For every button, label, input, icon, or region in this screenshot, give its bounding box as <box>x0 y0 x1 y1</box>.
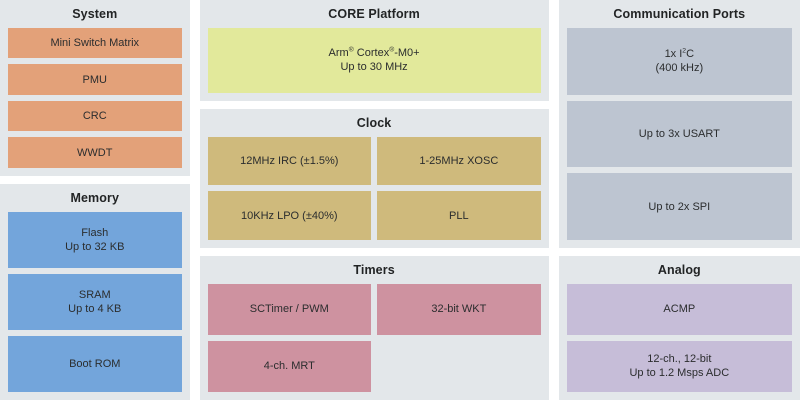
block-label-line1: SRAM <box>79 289 111 301</box>
block-label-line2: (400 kHz) <box>655 62 703 74</box>
left-column: System Mini Switch Matrix PMU CRC WWDT M… <box>0 0 190 400</box>
block-crc[interactable]: CRC <box>8 101 182 132</box>
block-sram[interactable]: SRAM Up to 4 KB <box>8 274 182 330</box>
mcu-block-diagram: System Mini Switch Matrix PMU CRC WWDT M… <box>0 0 800 400</box>
panel-title-communication-ports: Communication Ports <box>567 8 792 22</box>
block-label: SRAM Up to 4 KB <box>68 288 121 316</box>
block-label-line1: 1x I2C <box>665 48 694 60</box>
analog-block-list: ACMP 12-ch., 12-bit Up to 1.2 Msps ADC <box>567 284 792 392</box>
block-acmp[interactable]: ACMP <box>567 284 792 335</box>
clock-block-list: 12MHz IRC (±1.5%) 1-25MHz XOSC 10KHz LPO… <box>208 137 541 240</box>
panel-title-timers: Timers <box>208 264 541 278</box>
i2c-prefix: 1x I <box>665 48 683 60</box>
timers-block-list: SCTimer / PWM 32-bit WKT 4-ch. MRT <box>208 284 541 392</box>
panel-title-memory: Memory <box>8 192 182 206</box>
panel-title-core-platform: CORE Platform <box>208 8 541 22</box>
block-label: 32-bit WKT <box>431 302 486 316</box>
block-label: 4-ch. MRT <box>264 359 315 373</box>
panel-memory: Memory Flash Up to 32 KB SRAM Up to 4 KB… <box>0 184 190 400</box>
block-32bit-wkt[interactable]: 32-bit WKT <box>377 284 541 335</box>
panel-clock: Clock 12MHz IRC (±1.5%) 1-25MHz XOSC 10K… <box>200 109 549 248</box>
communication-block-list: 1x I2C (400 kHz) Up to 3x USART Up to 2x… <box>567 28 792 240</box>
block-label: 12-ch., 12-bit Up to 1.2 Msps ADC <box>629 352 729 380</box>
right-column: Communication Ports 1x I2C (400 kHz) Up … <box>559 0 800 400</box>
block-10khz-lpo[interactable]: 10KHz LPO (±40%) <box>208 191 372 240</box>
block-label-line2: Up to 4 KB <box>68 303 121 315</box>
block-timers-placeholder <box>377 341 541 392</box>
block-sctimer-pwm[interactable]: SCTimer / PWM <box>208 284 372 335</box>
block-arm-cortex-m0plus[interactable]: Arm® Cortex®-M0+ Up to 30 MHz <box>208 28 541 93</box>
block-label: 1-25MHz XOSC <box>419 154 498 168</box>
block-label: Mini Switch Matrix <box>50 36 139 50</box>
core-family: Cortex <box>354 47 389 59</box>
block-label-line1: Boot ROM <box>69 357 120 371</box>
block-usart[interactable]: Up to 3x USART <box>567 101 792 168</box>
panel-timers: Timers SCTimer / PWM 32-bit WKT 4-ch. MR… <box>200 256 549 400</box>
block-12mhz-irc[interactable]: 12MHz IRC (±1.5%) <box>208 137 372 186</box>
block-label-line1: Up to 2x SPI <box>648 200 710 214</box>
block-label-line2: Up to 1.2 Msps ADC <box>629 367 729 379</box>
block-label: WWDT <box>77 146 112 160</box>
block-label: PLL <box>449 209 469 223</box>
panel-core-platform: CORE Platform Arm® Cortex®-M0+ Up to 30 … <box>200 0 549 101</box>
block-label-line1: Arm® Cortex®-M0+ <box>329 47 420 59</box>
block-label: SCTimer / PWM <box>250 302 329 316</box>
block-wwdt[interactable]: WWDT <box>8 137 182 168</box>
block-xosc[interactable]: 1-25MHz XOSC <box>377 137 541 186</box>
block-label: 10KHz LPO (±40%) <box>241 209 338 223</box>
block-label: PMU <box>83 73 107 87</box>
panel-system: System Mini Switch Matrix PMU CRC WWDT <box>0 0 190 176</box>
block-label-line1: ACMP <box>663 302 695 316</box>
panel-title-system: System <box>8 8 182 22</box>
block-spi[interactable]: Up to 2x SPI <box>567 173 792 240</box>
memory-block-list: Flash Up to 32 KB SRAM Up to 4 KB Boot R… <box>8 212 182 392</box>
i2c-suffix: C <box>686 48 694 60</box>
block-label-line1: Up to 3x USART <box>639 127 720 141</box>
block-boot-rom[interactable]: Boot ROM <box>8 336 182 392</box>
block-mini-switch-matrix[interactable]: Mini Switch Matrix <box>8 28 182 59</box>
block-label-line1: Flash <box>81 227 108 239</box>
panel-title-clock: Clock <box>208 117 541 131</box>
block-label: 12MHz IRC (±1.5%) <box>240 154 338 168</box>
block-label-line1: 12-ch., 12-bit <box>647 353 711 365</box>
core-block-list: Arm® Cortex®-M0+ Up to 30 MHz <box>208 28 541 93</box>
block-label: 1x I2C (400 kHz) <box>655 47 703 75</box>
core-variant: -M0+ <box>394 47 419 59</box>
block-flash[interactable]: Flash Up to 32 KB <box>8 212 182 268</box>
block-i2c[interactable]: 1x I2C (400 kHz) <box>567 28 792 95</box>
panel-analog: Analog ACMP 12-ch., 12-bit Up to 1.2 Msp… <box>559 256 800 400</box>
block-label-line2: Up to 32 KB <box>65 241 124 253</box>
panel-title-analog: Analog <box>567 264 792 278</box>
block-label: CRC <box>83 109 107 123</box>
core-vendor: Arm <box>329 47 349 59</box>
block-label-line2: Up to 30 MHz <box>340 61 407 73</box>
middle-column: CORE Platform Arm® Cortex®-M0+ Up to 30 … <box>200 0 549 400</box>
block-label: Flash Up to 32 KB <box>65 226 124 254</box>
block-adc[interactable]: 12-ch., 12-bit Up to 1.2 Msps ADC <box>567 341 792 392</box>
system-block-list: Mini Switch Matrix PMU CRC WWDT <box>8 28 182 168</box>
panel-communication-ports: Communication Ports 1x I2C (400 kHz) Up … <box>559 0 800 248</box>
block-4ch-mrt[interactable]: 4-ch. MRT <box>208 341 372 392</box>
block-label: Arm® Cortex®-M0+ Up to 30 MHz <box>329 46 420 74</box>
block-pmu[interactable]: PMU <box>8 64 182 95</box>
block-pll[interactable]: PLL <box>377 191 541 240</box>
